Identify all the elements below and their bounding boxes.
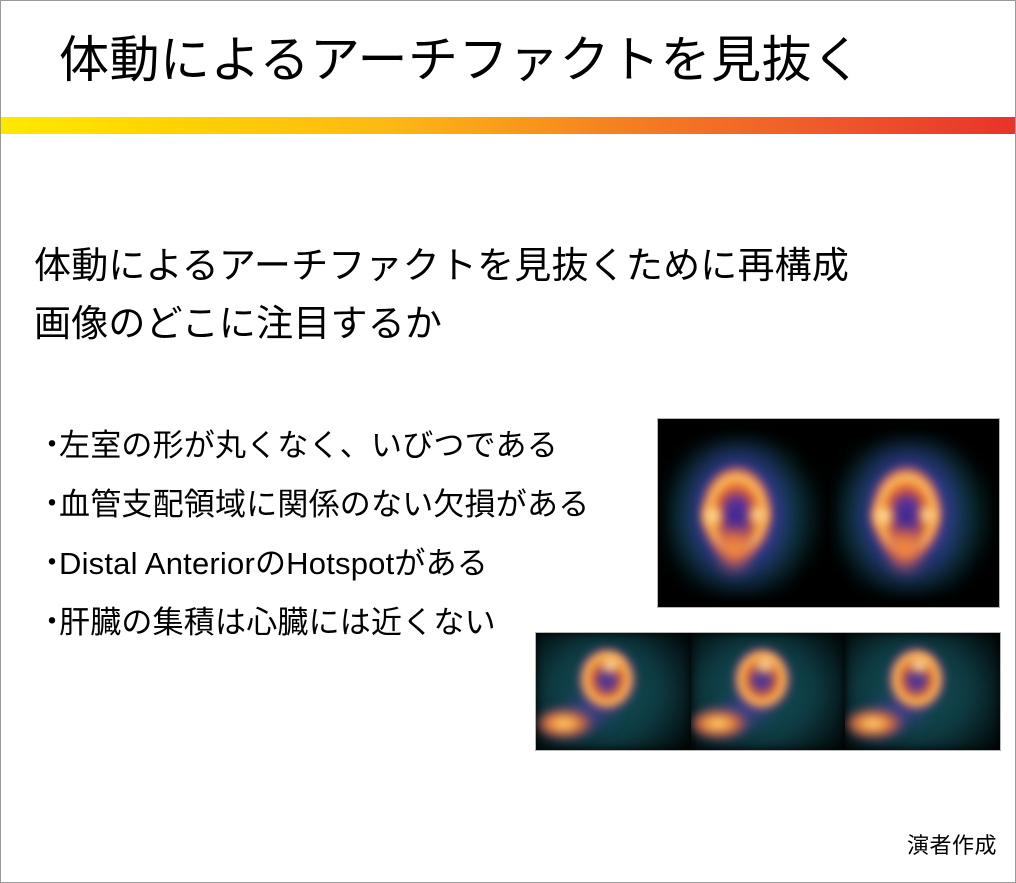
list-item: ・ Distal AnteriorのHotspotがある [37, 542, 677, 601]
lead-paragraph: 体動によるアーチファクトを見抜くために再構成 画像のどこに注目するか [34, 237, 934, 353]
bullet-marker-icon: ・ [37, 542, 59, 586]
spect-slice-row [658, 419, 999, 607]
credit-label: 演者作成 [907, 832, 997, 860]
bullet-marker-icon: ・ [37, 483, 59, 527]
myocardium-inferior-wall [886, 528, 924, 577]
bullet-marker-icon: ・ [37, 424, 59, 468]
spect-slice [829, 419, 1000, 607]
hotspot [907, 654, 932, 675]
liver-uptake [847, 706, 909, 741]
lead-line-1: 体動によるアーチファクトを見抜くために再構成 [34, 237, 934, 295]
bullet-text: 肝臓の集積は心臓には近くない [59, 601, 496, 645]
spect-slice [658, 419, 829, 607]
spect-short-axis-panel [657, 418, 1000, 608]
spect-slice-row [536, 633, 1000, 750]
bullet-text: 左室の形が丸くなく、いびつである [59, 424, 558, 468]
list-item: ・ 左室の形が丸くなく、いびつである [37, 424, 677, 483]
spect-slice [536, 633, 691, 750]
list-item: ・ 血管支配領域に関係のない欠損がある [37, 483, 677, 542]
hotspot [871, 502, 895, 530]
liver-uptake [538, 706, 600, 741]
title-area: 体動によるアーチファクトを見抜く [1, 1, 1015, 117]
spect-axial-panel [535, 632, 1001, 751]
liver-uptake [692, 706, 754, 741]
hotspot [753, 654, 778, 675]
myocardium-inferior-wall [716, 528, 754, 577]
slide-root: 体動によるアーチファクトを見抜く 体動によるアーチファクトを見抜くために再構成 … [0, 0, 1016, 883]
bullet-text: 血管支配領域に関係のない欠損がある [59, 483, 589, 527]
spect-slice [845, 633, 1000, 750]
page-title: 体動によるアーチファクトを見抜く [59, 29, 863, 91]
hotspot [598, 654, 623, 675]
spect-slice [691, 633, 846, 750]
bullet-text: Distal AnteriorのHotspotがある [59, 542, 488, 586]
hotspot [701, 502, 725, 530]
bullet-marker-icon: ・ [37, 601, 59, 645]
hotspot [747, 502, 769, 528]
lead-line-2: 画像のどこに注目するか [34, 295, 934, 353]
accent-gradient-bar [1, 117, 1015, 134]
bullet-list: ・ 左室の形が丸くなく、いびつである ・ 血管支配領域に関係のない欠損がある ・… [37, 424, 677, 660]
